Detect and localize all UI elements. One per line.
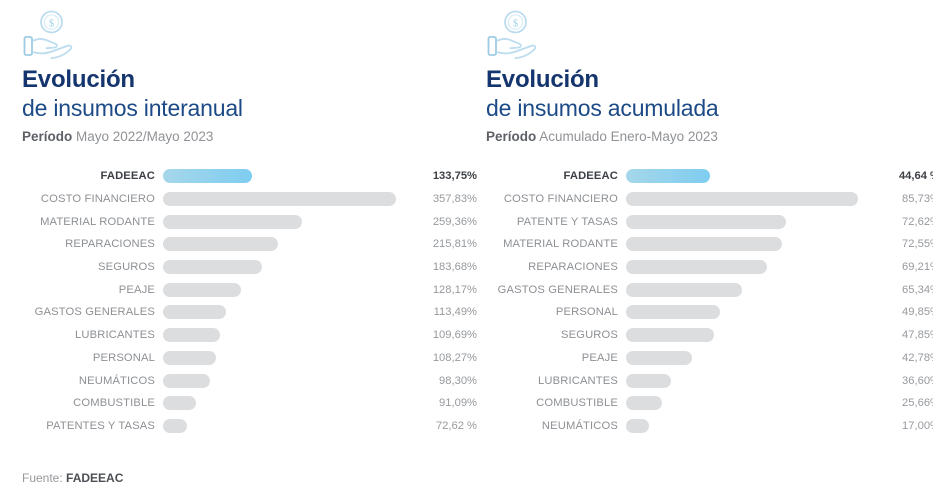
row-label: GASTOS GENERALES (22, 306, 155, 318)
page-title-line1: Evolución (22, 66, 243, 94)
row-value: 65,34% (868, 284, 933, 296)
bar-track (626, 301, 868, 324)
source-note: Fuente: FADEEAC (22, 471, 123, 485)
bar-track (626, 256, 868, 279)
row-value: 72,62% (868, 216, 933, 228)
row-label: LUBRICANTES (22, 329, 155, 341)
bar (626, 283, 742, 297)
bar (163, 169, 252, 183)
bar-track (163, 347, 407, 370)
chart-row: COMBUSTIBLE91,09% (22, 392, 488, 415)
bar (163, 237, 278, 251)
bar-track (163, 324, 407, 347)
period-label: Período (22, 129, 72, 144)
row-label: PERSONAL (486, 306, 618, 318)
chart-row: COMBUSTIBLE25,66% (486, 392, 933, 415)
page-title-line1: Evolución (486, 66, 719, 94)
bar (626, 328, 714, 342)
bar-track (163, 392, 407, 415)
chart-row: NEUMÁTICOS17,00% (486, 415, 933, 438)
row-value: 69,21% (868, 261, 933, 273)
bar-track (626, 369, 868, 392)
period-line: Período Acumulado Enero-Mayo 2023 (486, 129, 719, 144)
chart-row: GASTOS GENERALES113,49% (22, 301, 488, 324)
chart-row: COSTO FINANCIERO357,83% (22, 188, 488, 211)
chart-row: MATERIAL RODANTE72,55% (486, 233, 933, 256)
row-label: MATERIAL RODANTE (486, 238, 618, 250)
chart-row: PEAJE42,78% (486, 347, 933, 370)
bar-chart-interanual: FADEEAC133,75% COSTO FINANCIERO357,83% M… (22, 165, 488, 437)
chart-row: MATERIAL RODANTE259,36% (22, 210, 488, 233)
row-value: 25,66% (868, 397, 933, 409)
bar (626, 374, 671, 388)
bar-track (163, 210, 407, 233)
bar (163, 260, 262, 274)
bar-track (626, 347, 868, 370)
source-label: Fuente: (22, 471, 63, 485)
row-value: 72,55% (868, 238, 933, 250)
bar (626, 169, 710, 183)
bar-track (626, 165, 868, 188)
row-label: FADEEAC (22, 170, 155, 182)
row-label: FADEEAC (486, 170, 618, 182)
chart-row: GASTOS GENERALES65,34% (486, 278, 933, 301)
row-label: COMBUSTIBLE (486, 397, 618, 409)
chart-row: COSTO FINANCIERO85,73% (486, 188, 933, 211)
bar (163, 328, 220, 342)
row-label: REPARACIONES (486, 261, 618, 273)
row-value: 49,85% (868, 306, 933, 318)
chart-row: REPARACIONES69,21% (486, 256, 933, 279)
chart-row: LUBRICANTES36,60% (486, 369, 933, 392)
title-block: Evolución de insumos interanual Período … (22, 66, 243, 144)
period-label: Período (486, 129, 536, 144)
bar (626, 215, 786, 229)
chart-row: PEAJE128,17% (22, 278, 488, 301)
bar (163, 419, 187, 433)
chart-row: FADEEAC133,75% (22, 165, 488, 188)
bar (626, 351, 692, 365)
panel-acumulada: $ Evolución de insumos acumulada Período… (466, 0, 932, 497)
row-label: GASTOS GENERALES (486, 284, 618, 296)
row-value: 36,60% (868, 375, 933, 387)
hand-holding-coin-icon: $ (486, 8, 544, 62)
row-label: NEUMÁTICOS (22, 375, 155, 387)
chart-row: PERSONAL49,85% (486, 301, 933, 324)
bar-chart-acumulada: FADEEAC44,64 % COSTO FINANCIERO85,73% PA… (486, 165, 933, 437)
period-line: Período Mayo 2022/Mayo 2023 (22, 129, 243, 144)
bar (163, 374, 210, 388)
bar-track (626, 278, 868, 301)
bar-track (626, 188, 868, 211)
bar (163, 305, 226, 319)
row-value: 44,64 % (868, 170, 933, 182)
chart-row: PERSONAL108,27% (22, 347, 488, 370)
bar-track (163, 278, 407, 301)
bar-track (626, 415, 868, 438)
bar-track (626, 392, 868, 415)
bar (626, 419, 649, 433)
bar-track (163, 165, 407, 188)
infographic-page: $ Evolución de insumos interanual Períod… (0, 0, 933, 497)
chart-row: REPARACIONES215,81% (22, 233, 488, 256)
bar (163, 283, 241, 297)
bar-track (163, 233, 407, 256)
row-label: COSTO FINANCIERO (486, 193, 618, 205)
source-name: FADEEAC (66, 471, 123, 485)
bar (626, 192, 858, 206)
chart-row: PATENTES Y TASAS72,62 % (22, 415, 488, 438)
bar-track (163, 256, 407, 279)
hand-holding-coin-icon: $ (22, 8, 80, 62)
period-value: Acumulado Enero-Mayo 2023 (539, 129, 718, 144)
panel-interanual: $ Evolución de insumos interanual Períod… (0, 0, 466, 497)
row-value: 85,73% (868, 193, 933, 205)
bar (626, 396, 662, 410)
row-value: 42,78% (868, 352, 933, 364)
bar (626, 237, 782, 251)
row-label: SEGUROS (486, 329, 618, 341)
row-value: 17,00% (868, 420, 933, 432)
period-value: Mayo 2022/Mayo 2023 (76, 129, 213, 144)
row-value: 47,85% (868, 329, 933, 341)
chart-row: SEGUROS47,85% (486, 324, 933, 347)
bar-track (626, 210, 868, 233)
svg-text:$: $ (513, 18, 518, 29)
chart-row: NEUMÁTICOS98,30% (22, 369, 488, 392)
row-label: NEUMÁTICOS (486, 420, 618, 432)
page-title-line2: de insumos interanual (22, 95, 243, 121)
chart-row: PATENTE Y TASAS72,62% (486, 210, 933, 233)
row-label: COSTO FINANCIERO (22, 193, 155, 205)
bar-track (626, 324, 868, 347)
row-label: PATENTES Y TASAS (22, 420, 155, 432)
row-label: LUBRICANTES (486, 375, 618, 387)
row-label: REPARACIONES (22, 238, 155, 250)
bar (163, 215, 302, 229)
page-title-line2: de insumos acumulada (486, 95, 719, 121)
row-label: PEAJE (486, 352, 618, 364)
bar (163, 396, 196, 410)
row-label: PERSONAL (22, 352, 155, 364)
bar (163, 351, 216, 365)
bar-track (163, 415, 407, 438)
chart-row: LUBRICANTES109,69% (22, 324, 488, 347)
bar (163, 192, 396, 206)
title-block: Evolución de insumos acumulada Período A… (486, 66, 719, 144)
bar-track (626, 233, 868, 256)
row-label: MATERIAL RODANTE (22, 216, 155, 228)
bar (626, 260, 767, 274)
row-label: COMBUSTIBLE (22, 397, 155, 409)
chart-row: FADEEAC44,64 % (486, 165, 933, 188)
bar-track (163, 301, 407, 324)
bar (626, 305, 720, 319)
bar-track (163, 369, 407, 392)
svg-text:$: $ (49, 18, 54, 29)
chart-row: SEGUROS183,68% (22, 256, 488, 279)
row-label: SEGUROS (22, 261, 155, 273)
bar-track (163, 188, 407, 211)
row-label: PEAJE (22, 284, 155, 296)
row-label: PATENTE Y TASAS (486, 216, 618, 228)
